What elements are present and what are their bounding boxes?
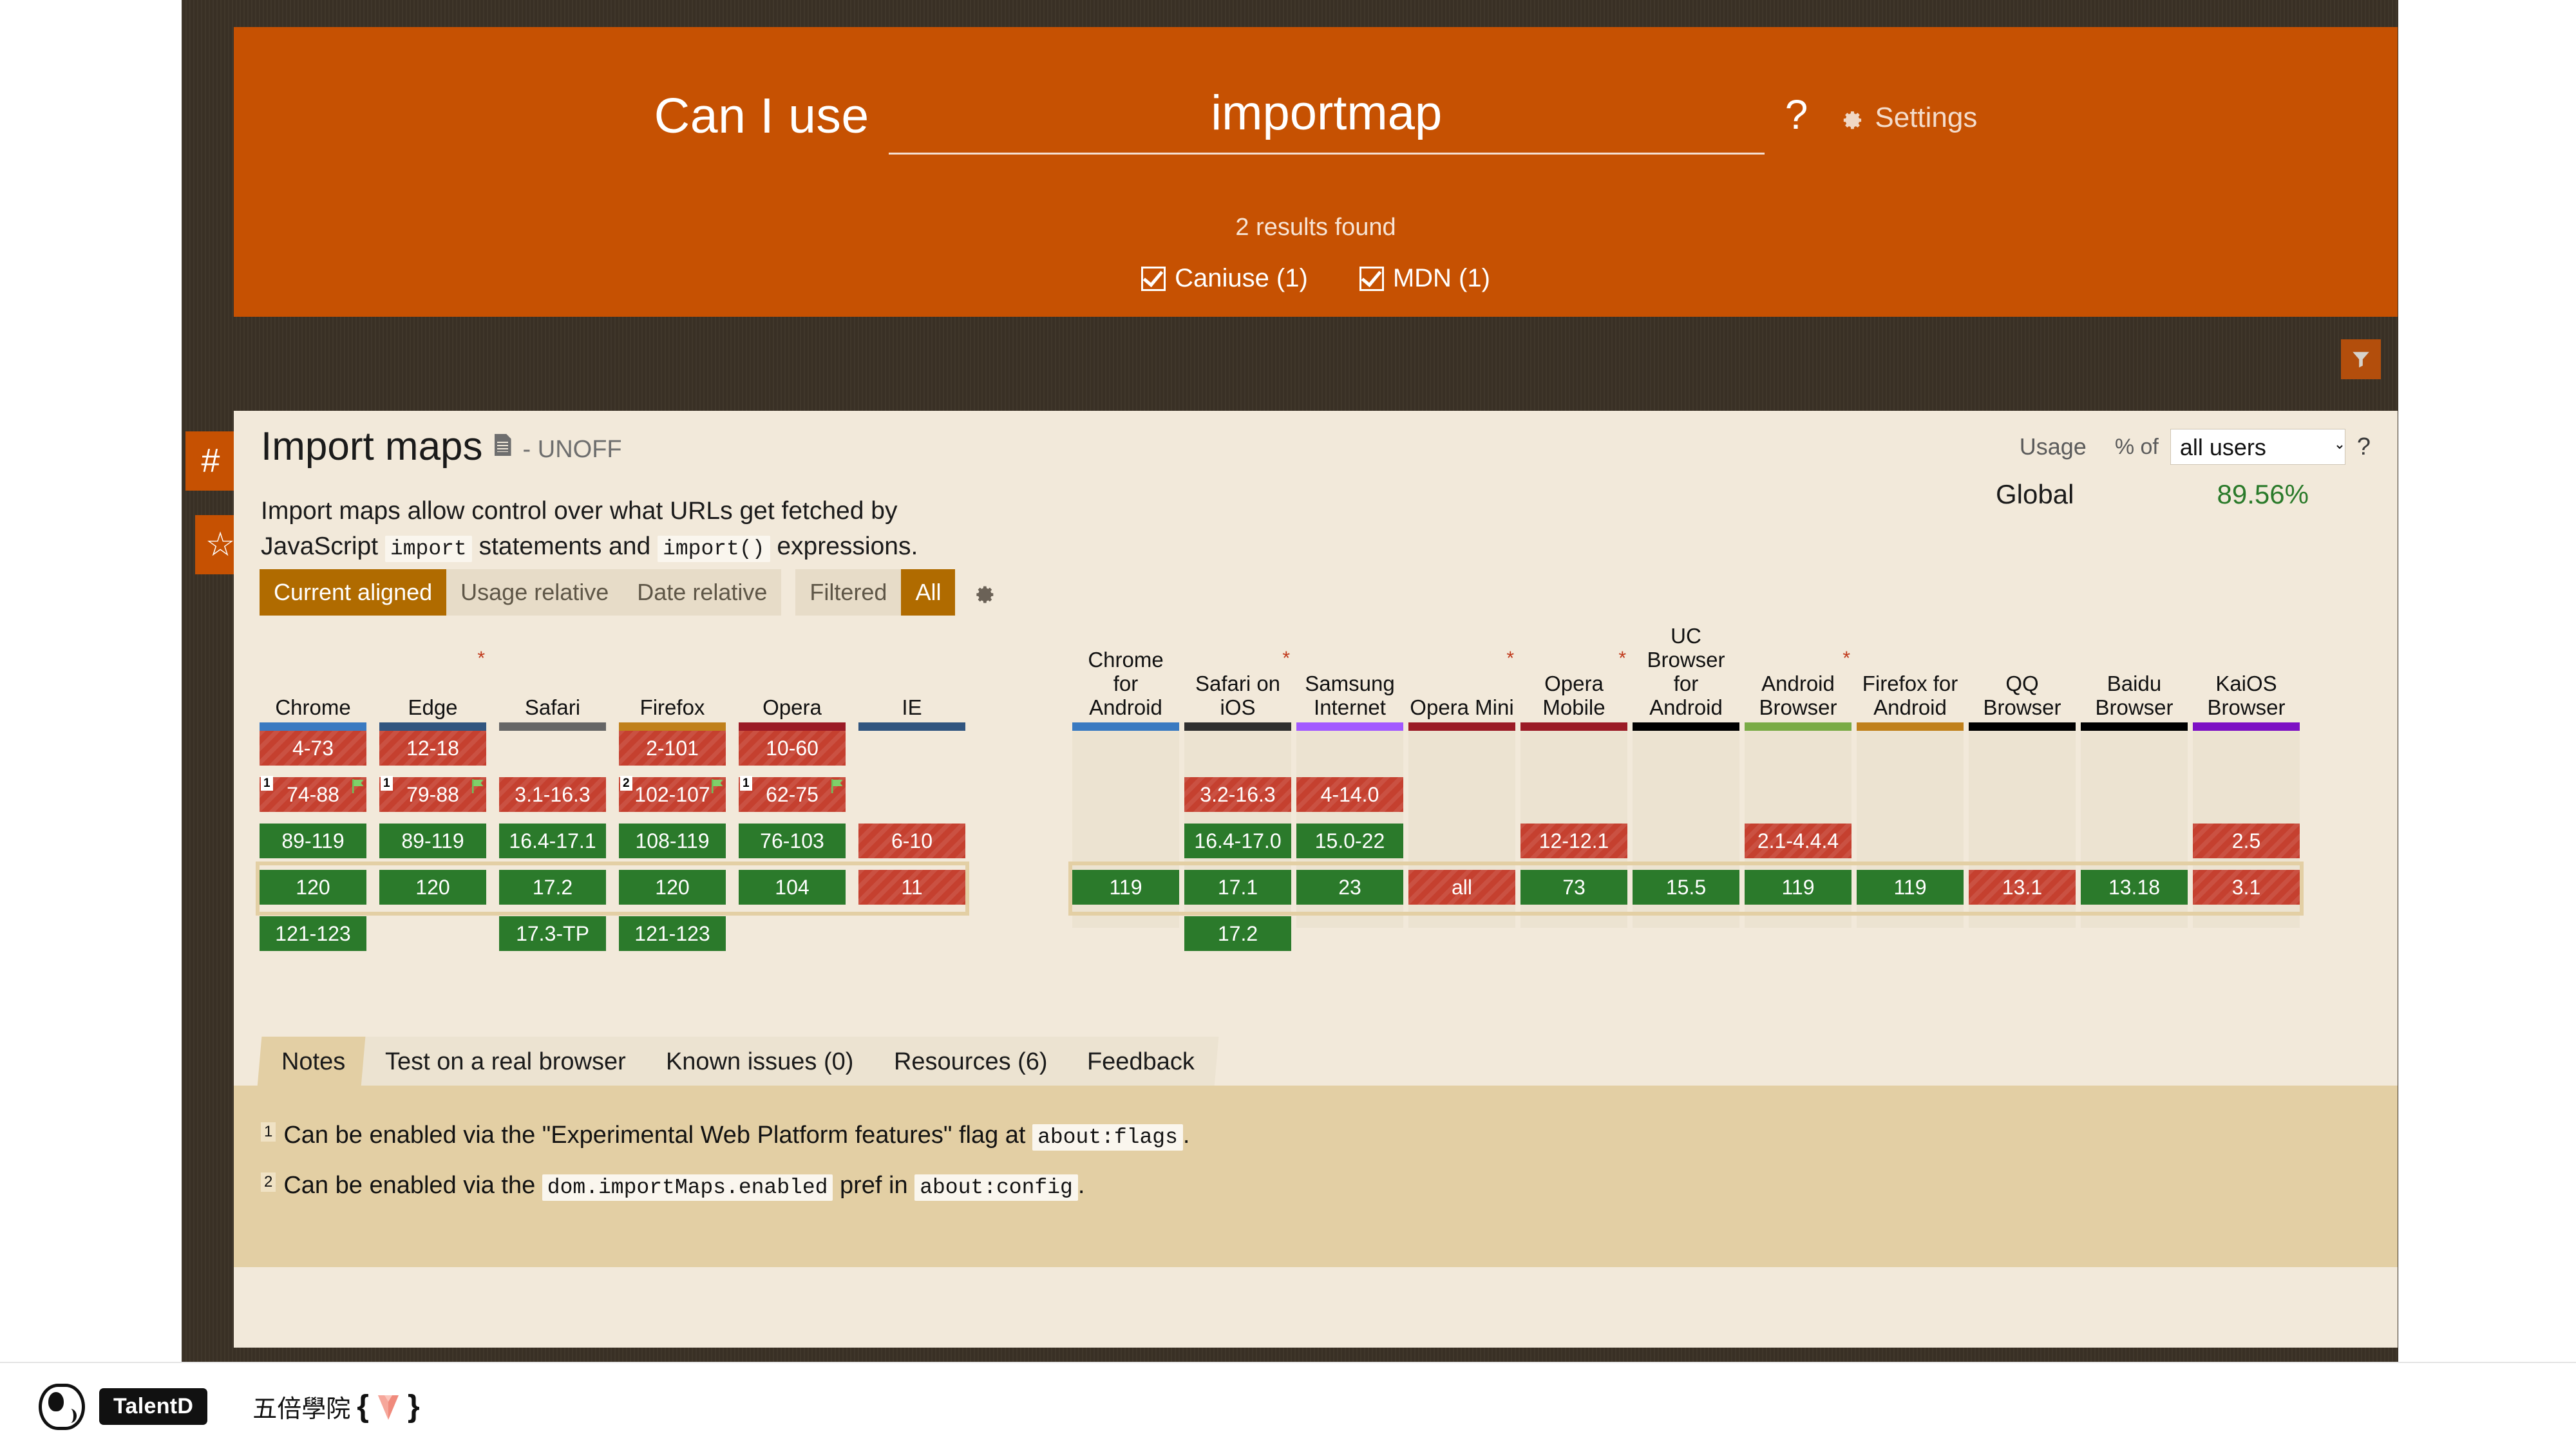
version-label: 89-119 (401, 829, 464, 853)
usage-controls-row: Usage % of all userstracked desktop brow… (1920, 429, 2371, 465)
tab-label: Test on a real browser (385, 1048, 626, 1076)
browser-name-label: Opera Mini (1410, 696, 1513, 720)
source-checkbox-mdn[interactable]: MDN (1) (1359, 264, 1490, 293)
usage-global-row: Global 89.56% (1920, 479, 2371, 510)
browser-version-cells: 12-12.173 (1520, 731, 1627, 963)
browser-name-label: Firefox (640, 696, 705, 720)
browser-name-label: UC Browser for Android (1647, 625, 1725, 720)
version-cell[interactable]: 4-73 (260, 731, 366, 766)
version-cell[interactable]: 121-123 (260, 916, 366, 951)
version-cell[interactable]: 15.0-22 (1296, 824, 1403, 858)
brace-open: { (357, 1389, 369, 1424)
gem-icon (375, 1393, 401, 1421)
footnote-marker[interactable]: 1 (740, 776, 752, 791)
mode-button-0[interactable]: Current aligned (260, 569, 446, 616)
browser-column-header: Chrome (260, 637, 366, 722)
version-cell[interactable]: 2-101 (619, 731, 726, 766)
version-label: 12-12.1 (1539, 829, 1609, 853)
gear-icon (1837, 104, 1864, 131)
tab-label: Known issues (0) (666, 1048, 853, 1076)
version-label: 3.2-16.3 (1200, 783, 1275, 807)
version-cell[interactable]: 2.1-4.4.4 (1745, 824, 1851, 858)
partial-support-asterisk: * (477, 649, 485, 668)
version-cell[interactable]: 89-119 (260, 824, 366, 858)
filter-icon (2349, 348, 2372, 370)
version-label: 17.3-TP (516, 922, 589, 946)
note-number: 1 (261, 1122, 276, 1142)
browser-name-label: Android Browser (1759, 672, 1837, 720)
sidebar-item-hash[interactable]: # (185, 431, 236, 491)
search-input[interactable] (889, 85, 1765, 155)
search-wrapper (889, 85, 1765, 155)
browser-name-label: KaiOS Browser (2207, 672, 2285, 720)
browser-column-header: Baidu Browser (2081, 637, 2188, 722)
browser-column-header: IE (858, 637, 965, 722)
version-cell[interactable]: 74-881 (260, 777, 366, 812)
version-label: 10-60 (766, 737, 819, 760)
version-cell[interactable]: 4-14.0 (1296, 777, 1403, 812)
browser-column-header: KaiOS Browser (2193, 637, 2300, 722)
version-cell[interactable]: 102-1072 (619, 777, 726, 812)
browser-name-label: Opera Mobile (1542, 672, 1605, 720)
browser-version-cells: 4-7374-88189-119120121-123 (260, 731, 366, 963)
browser-version-cells: 12-1879-88189-119120 (379, 731, 486, 963)
version-cell[interactable]: 79-881 (379, 777, 486, 812)
wubei-academy-logo: 五倍學院 { } (252, 1389, 419, 1424)
source-label: Caniuse (1) (1175, 264, 1308, 293)
browser-color-bar (1969, 722, 2076, 731)
browser-version-cells: all (1408, 731, 1515, 963)
version-cell[interactable]: 16.4-17.0 (1184, 824, 1291, 858)
site-logo: Can I use (654, 85, 869, 141)
flag-icon (352, 775, 365, 789)
browser-name-label: Firefox for Android (1862, 672, 1958, 720)
tab-0[interactable]: Notes (258, 1037, 370, 1087)
usage-help-icon[interactable]: ? (2357, 433, 2371, 461)
browser-version-cells: 3.1-16.316.4-17.117.217.3-TP (499, 731, 606, 963)
filter-button[interactable] (2341, 339, 2381, 379)
spec-status-label: - UNOFF (523, 436, 622, 464)
browser-color-bar (739, 722, 846, 731)
browser-name-label: Opera (762, 696, 822, 720)
browser-column-header: Safari (499, 637, 606, 722)
source-filter-group: Caniuse (1) MDN (1) (234, 264, 2398, 293)
version-label: 4-14.0 (1321, 783, 1379, 807)
footnote-marker[interactable]: 2 (620, 776, 632, 791)
tab-label: Resources (6) (894, 1048, 1048, 1076)
partial-support-asterisk: * (1842, 649, 1850, 668)
inline-code: import() (658, 536, 770, 562)
browser-version-cells: 2.53.1 (2193, 731, 2300, 963)
browser-version-cells: 3.2-16.316.4-17.017.117.2 (1184, 731, 1291, 963)
page-footer: TalentD 五倍學院 { } (0, 1362, 2576, 1450)
settings-link[interactable]: Settings (1837, 85, 1977, 134)
version-cell[interactable]: 16.4-17.1 (499, 824, 606, 858)
browser-name-label: Chrome (275, 696, 350, 720)
global-usage-value: 89.56% (2217, 479, 2309, 510)
tab-label: Notes (281, 1048, 345, 1076)
version-label: 121-123 (275, 922, 350, 946)
browser-color-bar (379, 722, 486, 731)
star-icon: ☆ (205, 528, 236, 561)
version-cell[interactable]: 3.1-16.3 (499, 777, 606, 812)
browser-name-label: QQ Browser (1983, 672, 2061, 720)
detail-tabs: NotesTest on a real browserKnown issues … (260, 1037, 1213, 1087)
browser-version-cells: 119 (1072, 731, 1179, 963)
filter-mode-button-1[interactable]: All (901, 569, 955, 616)
browser-name-label: IE (902, 696, 922, 720)
flag-icon (472, 775, 485, 789)
feature-title-row: Import maps - UNOFF (261, 427, 622, 467)
version-cell[interactable]: 17.3-TP (499, 916, 606, 951)
tab-2[interactable]: Known issues (0) (642, 1037, 878, 1087)
browser-color-bar (1520, 722, 1627, 731)
footnote-marker[interactable]: 1 (381, 776, 393, 791)
version-cell[interactable]: 10-60 (739, 731, 846, 766)
tab-3[interactable]: Resources (6) (869, 1037, 1071, 1087)
browser-version-cells: 15.5 (1633, 731, 1739, 963)
note-number: 2 (261, 1172, 276, 1192)
talentd-cat-logo-icon (39, 1384, 85, 1430)
browser-color-bar (1072, 722, 1179, 731)
version-label: 4-73 (292, 737, 334, 760)
browser-column-header: Firefox (619, 637, 726, 722)
percent-of-label: % of (2115, 435, 2159, 460)
source-label: MDN (1) (1393, 264, 1490, 293)
version-label: 2-101 (646, 737, 699, 760)
header-search-row: Can I use ? Settings (234, 85, 2398, 156)
version-label: 2.5 (2232, 829, 2260, 853)
browser-column-header: Firefox for Android (1857, 637, 1964, 722)
browser-color-bar (619, 722, 726, 731)
version-cell[interactable]: 6-10 (858, 824, 965, 858)
inline-code: about:config (914, 1174, 1078, 1201)
notes-panel: 1Can be enabled via the "Experimental We… (234, 1086, 2398, 1267)
version-cell[interactable]: 17.2 (1184, 916, 1291, 951)
browser-name-label: Chrome for Android (1088, 648, 1163, 720)
header-help-icon[interactable]: ? (1785, 85, 1808, 135)
version-cell[interactable]: 89-119 (379, 824, 486, 858)
browser-column-header: Samsung Internet (1296, 637, 1403, 722)
browser-name-label: Edge (408, 696, 457, 720)
browser-name-label: Safari (525, 696, 580, 720)
mode-button-2[interactable]: Date relative (623, 569, 781, 616)
brace-close: } (408, 1389, 420, 1424)
version-label: 74-88 (287, 783, 339, 807)
results-found-text: 2 results found (234, 214, 2398, 241)
version-label: 16.4-17.0 (1194, 829, 1281, 853)
settings-label: Settings (1875, 102, 1977, 134)
browser-color-bar (1184, 722, 1291, 731)
version-label: 108-119 (635, 829, 709, 853)
browser-version-cells: 2-101102-1072108-119120121-123 (619, 731, 726, 963)
version-cell[interactable]: 2.5 (2193, 824, 2300, 858)
browser-version-cells: 119 (1857, 731, 1964, 963)
inline-code: import (385, 536, 472, 562)
browser-column-header: Android Browser* (1745, 637, 1851, 722)
version-cell[interactable]: 12-18 (379, 731, 486, 766)
note-text: Can be enabled via the dom.importMaps.en… (283, 1172, 1084, 1200)
browser-version-cells: 6-1011 (858, 731, 965, 963)
version-label: 3.1-16.3 (515, 783, 590, 807)
mode-button-1[interactable]: Usage relative (446, 569, 623, 616)
hash-icon: # (202, 444, 220, 478)
footnote-marker[interactable]: 1 (261, 776, 273, 791)
browser-column-header: Opera Mobile* (1520, 637, 1627, 722)
version-label: 62-75 (766, 783, 819, 807)
tab-label: Feedback (1087, 1048, 1195, 1076)
version-label: 6-10 (891, 829, 933, 853)
browser-version-cells: 4-14.015.0-2223 (1296, 731, 1403, 963)
version-cell[interactable]: 121-123 (619, 916, 726, 951)
flag-icon (831, 775, 844, 789)
version-label: 79-88 (406, 783, 459, 807)
browser-support-grid: Chrome4-7374-88189-119120121-123Edge*12-… (260, 637, 2372, 998)
current-version-highlight (1068, 862, 2304, 916)
browser-color-bar (1408, 722, 1515, 731)
browser-version-cells: 10-6062-75176-103104 (739, 731, 846, 963)
browser-color-bar (2081, 722, 2188, 731)
partial-support-asterisk: * (1506, 649, 1514, 668)
checkbox-icon[interactable] (1141, 267, 1166, 291)
version-label: 2.1-4.4.4 (1757, 829, 1839, 853)
version-label: 121-123 (634, 922, 710, 946)
gear-icon (971, 579, 996, 605)
note-line: 2Can be enabled via the dom.importMaps.e… (261, 1172, 1084, 1200)
current-version-highlight (256, 862, 969, 916)
inline-code: dom.importMaps.enabled (542, 1174, 833, 1201)
version-cell[interactable]: 3.2-16.3 (1184, 777, 1291, 812)
version-label: 89-119 (281, 829, 344, 853)
checkbox-icon[interactable] (1359, 267, 1384, 291)
browser-color-bar (2193, 722, 2300, 731)
version-label: 16.4-17.1 (509, 829, 596, 853)
browser-version-cells: 13.18 (2081, 731, 2188, 963)
browser-column-header: Opera Mini* (1408, 637, 1515, 722)
grid-settings-button[interactable] (971, 579, 996, 605)
spec-document-icon (495, 434, 511, 456)
page-root: Can I use ? Settings 2 results found Can… (0, 0, 2576, 1449)
browser-color-bar (1633, 722, 1739, 731)
partial-support-asterisk: * (1618, 649, 1626, 668)
browser-column-header: QQ Browser (1969, 637, 2076, 722)
usage-scope-select[interactable]: all userstracked desktop browsers (2170, 429, 2345, 465)
version-cell[interactable]: 62-751 (739, 777, 846, 812)
browser-column-header: Chrome for Android (1072, 637, 1179, 722)
feature-card: Import maps - UNOFF Import maps allow co… (234, 411, 2398, 1348)
browser-color-bar (260, 722, 366, 731)
site-header: Can I use ? Settings 2 results found Can… (234, 27, 2398, 317)
browser-version-cells: 13.1 (1969, 731, 2076, 963)
browser-column-header: UC Browser for Android (1633, 637, 1739, 722)
view-mode-toolbar: Current alignedUsage relativeDate relati… (260, 569, 996, 616)
browser-name-label: Safari on iOS (1195, 672, 1280, 720)
wubei-text: 五倍學院 (252, 1389, 350, 1424)
browser-column-header: Safari on iOS* (1184, 637, 1291, 722)
filter-mode-button-0[interactable]: Filtered (795, 569, 901, 616)
version-label: 17.2 (1218, 922, 1258, 946)
browser-color-bar (1296, 722, 1403, 731)
source-checkbox-caniuse[interactable]: Caniuse (1) (1141, 264, 1308, 293)
global-label: Global (1996, 479, 2074, 510)
version-cell[interactable]: 12-12.1 (1520, 824, 1627, 858)
tab-4[interactable]: Feedback (1063, 1037, 1219, 1087)
feature-description: Import maps allow control over what URLs… (261, 493, 982, 565)
tab-1[interactable]: Test on a real browser (361, 1037, 650, 1087)
browser-color-bar (499, 722, 606, 731)
note-text: Can be enabled via the "Experimental Web… (283, 1122, 1189, 1149)
version-label: 76-103 (760, 829, 824, 853)
browser-column-header: Edge* (379, 637, 486, 722)
version-label: 12-18 (406, 737, 459, 760)
version-label: 15.0-22 (1315, 829, 1385, 853)
browser-name-label: Baidu Browser (2095, 672, 2173, 720)
browser-color-bar (1857, 722, 1964, 731)
browser-column-header: Opera (739, 637, 846, 722)
version-cell[interactable]: 108-119 (619, 824, 726, 858)
browser-color-bar (858, 722, 965, 731)
partial-support-asterisk: * (1282, 649, 1290, 668)
page-title: Import maps (261, 427, 483, 467)
browser-version-cells: 2.1-4.4.4119 (1745, 731, 1851, 963)
usage-block: Usage % of all userstracked desktop brow… (1920, 429, 2371, 510)
inline-code: about:flags (1032, 1124, 1183, 1151)
version-label: 102-107 (634, 783, 710, 807)
version-cell[interactable]: 76-103 (739, 824, 846, 858)
browser-color-bar (1745, 722, 1851, 731)
browser-name-label: Samsung Internet (1305, 672, 1394, 720)
usage-label: Usage (2020, 433, 2087, 460)
flag-icon (712, 775, 724, 789)
talentd-badge: TalentD (99, 1388, 207, 1425)
note-line: 1Can be enabled via the "Experimental We… (261, 1122, 1189, 1149)
